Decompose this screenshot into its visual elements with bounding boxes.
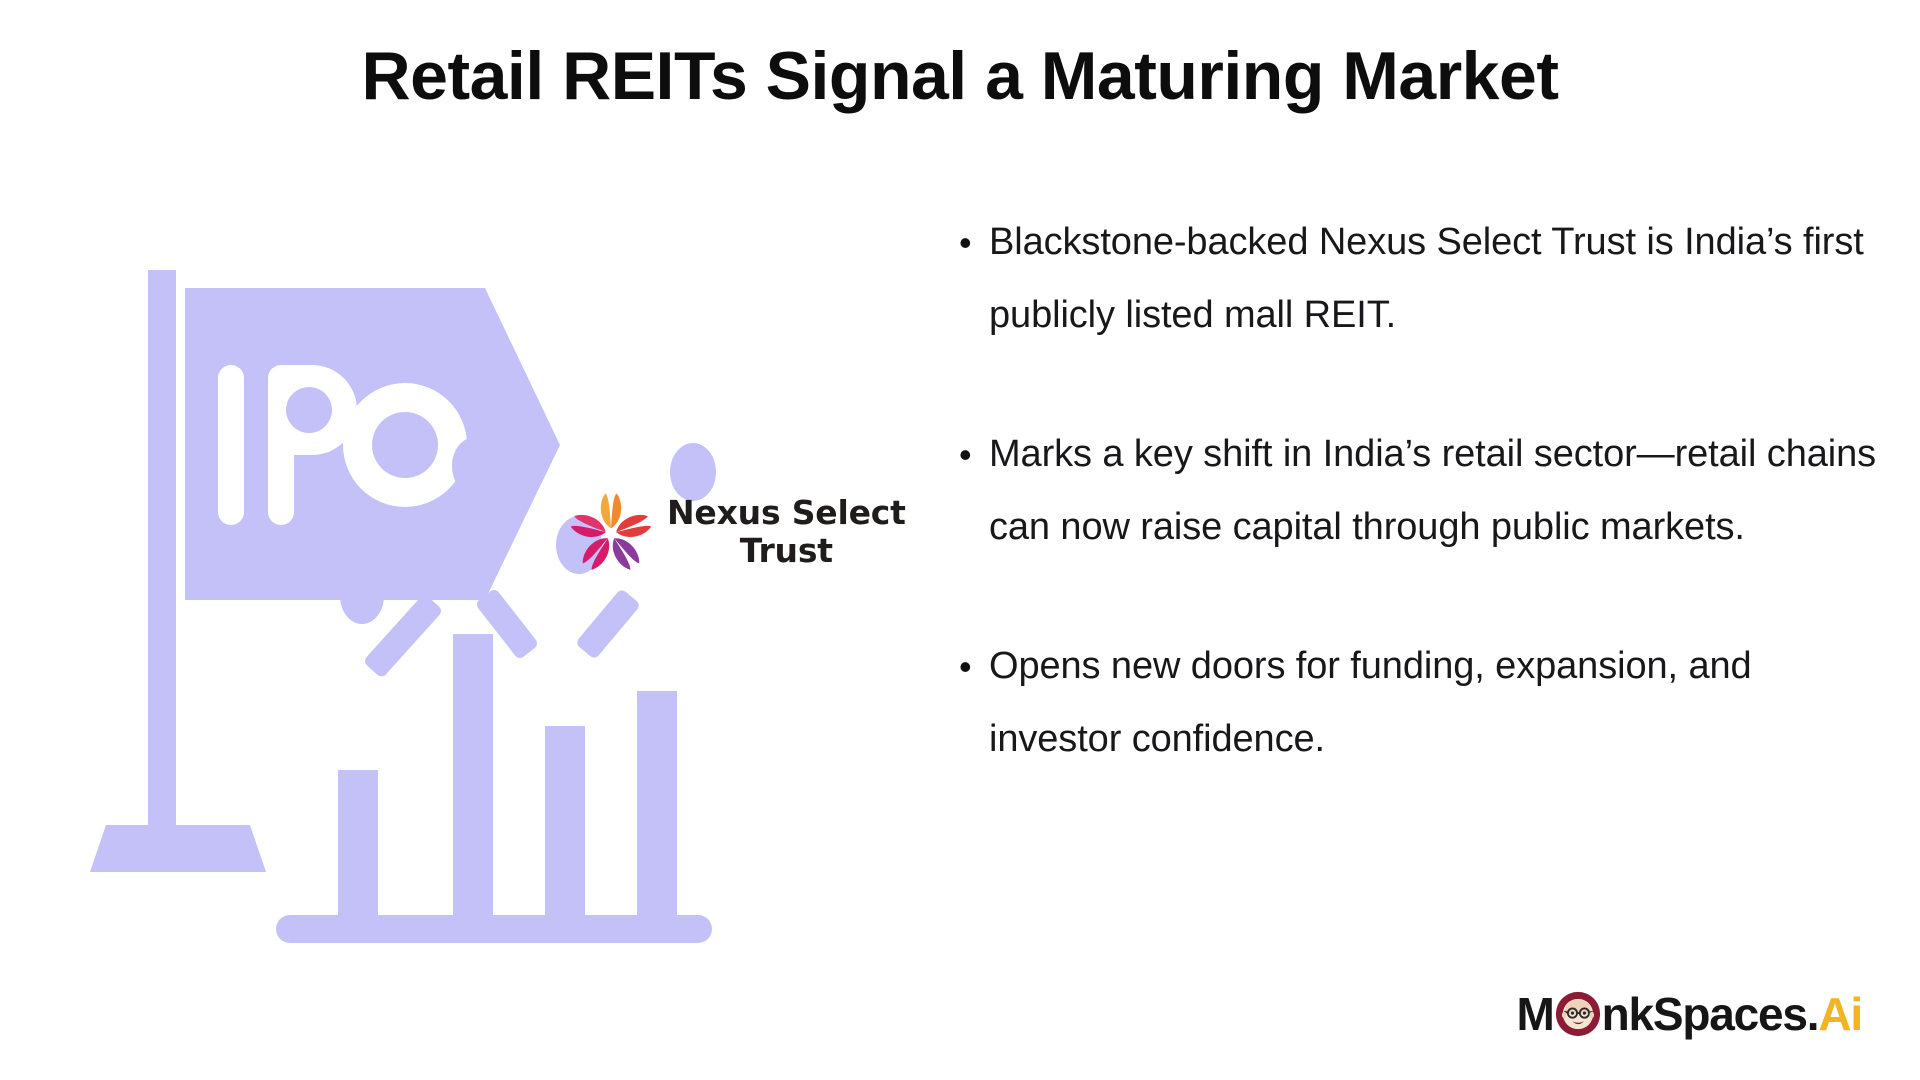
bullet-text: Opens new doors for funding, expansion, … xyxy=(989,630,1885,776)
brand-name-part1: M xyxy=(1516,991,1553,1037)
bullet-marker-icon: • xyxy=(955,418,989,491)
list-item: • Blackstone-backed Nexus Select Trust i… xyxy=(955,206,1885,352)
nexus-wordmark-line2: Trust xyxy=(667,532,906,570)
page-title: Retail REITs Signal a Maturing Market xyxy=(0,36,1920,116)
bullet-list: • Blackstone-backed Nexus Select Trust i… xyxy=(955,206,1885,776)
list-item: • Marks a key shift in India’s retail se… xyxy=(955,418,1885,564)
bullet-marker-icon: • xyxy=(955,206,989,279)
brand-dot: . xyxy=(1807,991,1819,1037)
monkspaces-logo[interactable]: M xyxy=(1516,982,1862,1046)
bar-chart-icon xyxy=(276,634,712,943)
slide-canvas: Retail REITs Signal a Maturing Market xyxy=(0,0,1920,1080)
nexus-select-trust-logo: Nexus Select Trust xyxy=(565,482,925,582)
list-item: • Opens new doors for funding, expansion… xyxy=(955,630,1885,776)
nexus-flower-icon xyxy=(565,486,657,578)
ipo-illustration xyxy=(90,270,830,960)
monk-face-icon xyxy=(1555,991,1601,1037)
brand-name: M xyxy=(1516,991,1862,1037)
brand-name-part2: nkSpaces xyxy=(1602,991,1807,1037)
nexus-wordmark: Nexus Select Trust xyxy=(667,494,906,571)
brand-suffix: Ai xyxy=(1818,991,1862,1037)
bullet-text: Blackstone-backed Nexus Select Trust is … xyxy=(989,206,1885,352)
bullet-marker-icon: • xyxy=(955,630,989,703)
nexus-wordmark-line1: Nexus Select xyxy=(667,494,906,532)
bullet-text: Marks a key shift in India’s retail sect… xyxy=(989,418,1885,564)
